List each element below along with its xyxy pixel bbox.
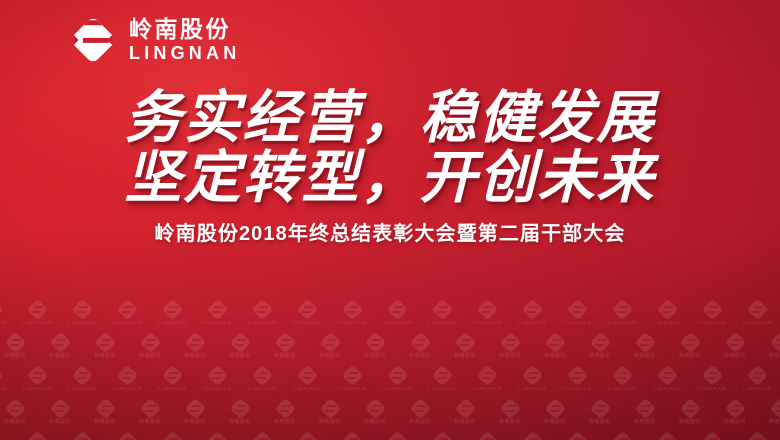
lingnan-diamond-logo-icon: [454, 398, 475, 419]
watermark-label-en: LINGNAN: [473, 321, 502, 326]
watermark-tile: 岭南股份: [398, 399, 443, 425]
watermark-label-cn: 岭南股份: [544, 420, 566, 425]
watermark-tile: LINGNAN: [330, 432, 375, 440]
watermark-tile: LINGNAN: [195, 300, 240, 326]
watermark-tile: 岭南股份: [578, 399, 623, 425]
watermark-label-cn: 岭南股份: [274, 354, 296, 359]
lingnan-diamond-logo-icon: [612, 365, 633, 386]
lingnan-diamond-logo-icon: [769, 332, 780, 353]
watermark-tile: LINGNAN: [510, 432, 555, 440]
watermark-label-en: LINGNAN: [203, 321, 232, 326]
lingnan-diamond-logo-icon: [657, 431, 678, 440]
lingnan-diamond-logo-icon: [207, 365, 228, 386]
watermark-label-cn: 岭南股份: [679, 420, 701, 425]
watermark-tile: LINGNAN: [555, 366, 600, 392]
lingnan-diamond-logo-icon: [0, 365, 3, 386]
watermark-tile: 岭南股份: [623, 333, 668, 359]
watermark-label-en: LINGNAN: [0, 321, 7, 326]
watermark-label-en: LINGNAN: [518, 321, 547, 326]
headline-line-2: 坚定转型，开创未来: [0, 148, 780, 208]
watermark-tile: 岭南股份: [713, 333, 758, 359]
lingnan-diamond-logo-icon: [297, 431, 318, 440]
watermark-label-cn: 岭南股份: [319, 354, 341, 359]
watermark-tile: LINGNAN: [735, 366, 780, 392]
watermark-label-cn: 岭南股份: [544, 354, 566, 359]
watermark-tile: LINGNAN: [420, 432, 465, 440]
lingnan-diamond-logo-icon: [477, 365, 498, 386]
lingnan-diamond-logo-icon: [657, 300, 678, 320]
watermark-label-en: LINGNAN: [653, 387, 682, 392]
watermark-label-cn: 岭南股份: [274, 420, 296, 425]
lingnan-diamond-logo-icon: [544, 332, 565, 353]
lingnan-diamond-logo-icon: [567, 300, 588, 320]
lingnan-diamond-logo-icon: [297, 300, 318, 320]
watermark-tile: LINGNAN: [645, 300, 690, 326]
lingnan-diamond-logo-icon: [544, 398, 565, 419]
watermark-label-en: LINGNAN: [743, 321, 772, 326]
watermark-label-cn: 岭南股份: [589, 420, 611, 425]
watermark-tile: LINGNAN: [375, 300, 420, 326]
watermark-label-cn: 岭南股份: [139, 354, 161, 359]
watermark-tile: LINGNAN: [285, 432, 330, 440]
watermark-label-en: LINGNAN: [68, 387, 97, 392]
watermark-tile: LINGNAN: [465, 300, 510, 326]
lingnan-diamond-logo-icon: [499, 398, 520, 419]
poster-canvas: LINGNANLINGNANLINGNANLINGNANLINGNANLINGN…: [0, 0, 780, 440]
watermark-label-en: LINGNAN: [338, 321, 367, 326]
watermark-label-cn: 岭南股份: [229, 420, 251, 425]
watermark-label-en: LINGNAN: [68, 321, 97, 326]
lingnan-diamond-logo-icon: [522, 431, 543, 440]
watermark-label-cn: 岭南股份: [49, 420, 71, 425]
lingnan-diamond-logo-icon: [117, 300, 138, 320]
watermark-label-en: LINGNAN: [698, 387, 727, 392]
watermark-label-cn: 岭南股份: [364, 354, 386, 359]
lingnan-diamond-logo-icon: [72, 300, 93, 320]
lingnan-diamond-logo-icon: [499, 332, 520, 353]
watermark-tile: LINGNAN: [645, 432, 690, 440]
lingnan-diamond-logo-icon: [0, 431, 3, 440]
lingnan-diamond-logo-icon: [70, 17, 116, 63]
watermark-tile: 岭南股份: [443, 399, 488, 425]
lingnan-diamond-logo-icon: [589, 398, 610, 419]
watermark-tile: LINGNAN: [0, 432, 15, 440]
lingnan-diamond-logo-icon: [387, 365, 408, 386]
watermark-label-en: LINGNAN: [563, 321, 592, 326]
watermark-tile: LINGNAN: [420, 300, 465, 326]
lingnan-diamond-logo-icon: [4, 332, 25, 353]
watermark-label-en: LINGNAN: [23, 321, 52, 326]
watermark-tile: 岭南股份: [488, 399, 533, 425]
watermark-tile: 岭南股份: [0, 333, 38, 359]
lingnan-diamond-logo-icon: [4, 398, 25, 419]
lingnan-diamond-logo-icon: [387, 300, 408, 320]
watermark-label-en: LINGNAN: [23, 387, 52, 392]
watermark-label-en: LINGNAN: [743, 387, 772, 392]
watermark-tile: 岭南股份: [83, 399, 128, 425]
lingnan-diamond-logo-icon: [297, 365, 318, 386]
watermark-tile: 岭南股份: [38, 333, 83, 359]
lingnan-diamond-logo-icon: [634, 398, 655, 419]
lingnan-diamond-logo-icon: [657, 365, 678, 386]
watermark-row: LINGNANLINGNANLINGNANLINGNANLINGNANLINGN…: [0, 432, 780, 440]
lingnan-diamond-logo-icon: [252, 431, 273, 440]
lingnan-diamond-logo-icon: [432, 300, 453, 320]
watermark-tile: LINGNAN: [105, 300, 150, 326]
watermark-label-cn: 岭南股份: [94, 354, 116, 359]
watermark-tile: LINGNAN: [375, 432, 420, 440]
watermark-tile: LINGNAN: [195, 432, 240, 440]
watermark-label-en: LINGNAN: [203, 387, 232, 392]
watermark-label-en: LINGNAN: [518, 387, 547, 392]
watermark-label-en: LINGNAN: [248, 387, 277, 392]
watermark-label-cn: 岭南股份: [4, 354, 26, 359]
lingnan-diamond-logo-icon: [72, 365, 93, 386]
watermark-label-cn: 岭南股份: [724, 354, 746, 359]
watermark-label-en: LINGNAN: [113, 387, 142, 392]
watermark-label-en: LINGNAN: [473, 387, 502, 392]
lingnan-diamond-logo-icon: [229, 398, 250, 419]
lingnan-diamond-logo-icon: [49, 398, 70, 419]
watermark-tile: LINGNAN: [0, 366, 15, 392]
watermark-label-en: LINGNAN: [158, 321, 187, 326]
lingnan-diamond-logo-icon: [139, 332, 160, 353]
watermark-tile: 岭南股份: [758, 333, 780, 359]
watermark-tile: 岭南股份: [0, 399, 38, 425]
watermark-label-cn: 岭南股份: [454, 420, 476, 425]
brand-logo-lockup: 岭南股份 LINGNAN: [70, 17, 240, 64]
watermark-tile: 岭南股份: [578, 333, 623, 359]
watermark-tile: 岭南股份: [308, 399, 353, 425]
lingnan-diamond-logo-icon: [409, 398, 430, 419]
lingnan-diamond-logo-icon: [27, 431, 48, 440]
watermark-tile: 岭南股份: [353, 399, 398, 425]
lingnan-diamond-logo-icon: [477, 300, 498, 320]
lingnan-diamond-logo-icon: [319, 398, 340, 419]
watermark-tile: LINGNAN: [15, 366, 60, 392]
lingnan-diamond-logo-icon: [94, 332, 115, 353]
watermark-row: 岭南股份岭南股份岭南股份岭南股份岭南股份岭南股份岭南股份岭南股份岭南股份岭南股份…: [0, 399, 780, 432]
watermark-tile: LINGNAN: [15, 432, 60, 440]
headline-block: 务实经营，稳健发展 坚定转型，开创未来 岭南股份2018年终总结表彰大会暨第二届…: [0, 88, 780, 246]
lingnan-diamond-logo-icon: [117, 431, 138, 440]
watermark-tile: LINGNAN: [690, 366, 735, 392]
lingnan-diamond-logo-icon: [522, 365, 543, 386]
watermark-tile: 岭南股份: [173, 399, 218, 425]
lingnan-diamond-logo-icon: [252, 300, 273, 320]
watermark-label-en: LINGNAN: [293, 387, 322, 392]
lingnan-diamond-logo-icon: [747, 300, 768, 320]
watermark-tile: LINGNAN: [150, 300, 195, 326]
lingnan-diamond-logo-icon: [207, 300, 228, 320]
lingnan-diamond-logo-icon: [162, 300, 183, 320]
watermark-pattern-band: LINGNANLINGNANLINGNANLINGNANLINGNANLINGN…: [0, 300, 780, 440]
lingnan-diamond-logo-icon: [589, 332, 610, 353]
watermark-tile: 岭南股份: [398, 333, 443, 359]
lingnan-diamond-logo-icon: [477, 431, 498, 440]
brand-name-en: LINGNAN: [129, 43, 240, 64]
watermark-tile: LINGNAN: [105, 432, 150, 440]
watermark-row: LINGNANLINGNANLINGNANLINGNANLINGNANLINGN…: [0, 366, 780, 399]
lingnan-diamond-logo-icon: [634, 332, 655, 353]
lingnan-diamond-logo-icon: [409, 332, 430, 353]
watermark-tile: LINGNAN: [600, 366, 645, 392]
watermark-tile: 岭南股份: [308, 333, 353, 359]
watermark-label-en: LINGNAN: [608, 321, 637, 326]
watermark-row: 岭南股份岭南股份岭南股份岭南股份岭南股份岭南股份岭南股份岭南股份岭南股份岭南股份…: [0, 333, 780, 366]
lingnan-diamond-logo-icon: [702, 365, 723, 386]
lingnan-diamond-logo-icon: [184, 398, 205, 419]
watermark-tile: LINGNAN: [330, 366, 375, 392]
watermark-tile: LINGNAN: [555, 300, 600, 326]
watermark-tile: 岭南股份: [488, 333, 533, 359]
lingnan-diamond-logo-icon: [94, 398, 115, 419]
watermark-tile: LINGNAN: [690, 432, 735, 440]
watermark-tile: 岭南股份: [263, 399, 308, 425]
watermark-tile: 岭南股份: [623, 399, 668, 425]
watermark-tile: 岭南股份: [263, 333, 308, 359]
watermark-tile: LINGNAN: [375, 366, 420, 392]
lingnan-diamond-logo-icon: [252, 365, 273, 386]
lingnan-diamond-logo-icon: [364, 332, 385, 353]
watermark-tile: 岭南股份: [173, 333, 218, 359]
lingnan-diamond-logo-icon: [319, 332, 340, 353]
watermark-label-cn: 岭南股份: [769, 354, 780, 359]
lingnan-diamond-logo-icon: [567, 431, 588, 440]
watermark-label-en: LINGNAN: [428, 321, 457, 326]
lingnan-diamond-logo-icon: [702, 431, 723, 440]
watermark-tile: LINGNAN: [240, 366, 285, 392]
event-subtitle: 岭南股份2018年终总结表彰大会暨第二届干部大会: [0, 222, 780, 246]
watermark-tile: LINGNAN: [240, 300, 285, 326]
brand-wordmark: 岭南股份 LINGNAN: [129, 17, 240, 64]
watermark-tile: LINGNAN: [105, 366, 150, 392]
watermark-label-cn: 岭南股份: [769, 420, 780, 425]
watermark-label-cn: 岭南股份: [634, 354, 656, 359]
watermark-tile: LINGNAN: [735, 300, 780, 326]
lingnan-diamond-logo-icon: [342, 365, 363, 386]
watermark-label-cn: 岭南股份: [679, 354, 701, 359]
lingnan-diamond-logo-icon: [72, 431, 93, 440]
watermark-label-cn: 岭南股份: [499, 420, 521, 425]
watermark-tile: LINGNAN: [60, 366, 105, 392]
watermark-tile: 岭南股份: [218, 399, 263, 425]
watermark-tile: 岭南股份: [668, 333, 713, 359]
lingnan-diamond-logo-icon: [612, 300, 633, 320]
watermark-label-en: LINGNAN: [698, 321, 727, 326]
watermark-label-en: LINGNAN: [383, 321, 412, 326]
lingnan-diamond-logo-icon: [679, 332, 700, 353]
lingnan-diamond-logo-icon: [27, 300, 48, 320]
lingnan-diamond-logo-icon: [49, 332, 70, 353]
lingnan-diamond-logo-icon: [747, 365, 768, 386]
watermark-label-cn: 岭南股份: [184, 420, 206, 425]
watermark-tile: 岭南股份: [83, 333, 128, 359]
watermark-label-cn: 岭南股份: [139, 420, 161, 425]
watermark-row: LINGNANLINGNANLINGNANLINGNANLINGNANLINGN…: [0, 300, 780, 333]
lingnan-diamond-logo-icon: [0, 300, 3, 320]
lingnan-diamond-logo-icon: [522, 300, 543, 320]
lingnan-diamond-logo-icon: [724, 332, 745, 353]
watermark-label-en: LINGNAN: [383, 387, 412, 392]
watermark-tile: LINGNAN: [420, 366, 465, 392]
watermark-tile: 岭南股份: [353, 333, 398, 359]
lingnan-diamond-logo-icon: [162, 431, 183, 440]
watermark-tile: LINGNAN: [60, 300, 105, 326]
watermark-label-cn: 岭南股份: [409, 354, 431, 359]
watermark-tile: LINGNAN: [285, 300, 330, 326]
watermark-tile: LINGNAN: [645, 366, 690, 392]
watermark-tile: LINGNAN: [285, 366, 330, 392]
watermark-label-cn: 岭南股份: [499, 354, 521, 359]
watermark-tile: LINGNAN: [600, 300, 645, 326]
watermark-tile: 岭南股份: [758, 399, 780, 425]
watermark-label-cn: 岭南股份: [364, 420, 386, 425]
lingnan-diamond-logo-icon: [27, 365, 48, 386]
headline-line-1: 务实经营，稳健发展: [0, 88, 780, 148]
watermark-tile: 岭南股份: [533, 333, 578, 359]
watermark-label-cn: 岭南股份: [634, 420, 656, 425]
watermark-tile: 岭南股份: [38, 399, 83, 425]
lingnan-diamond-logo-icon: [679, 398, 700, 419]
lingnan-diamond-logo-icon: [432, 431, 453, 440]
watermark-tile: LINGNAN: [60, 432, 105, 440]
lingnan-diamond-logo-icon: [184, 332, 205, 353]
lingnan-diamond-logo-icon: [702, 300, 723, 320]
watermark-tile: LINGNAN: [600, 432, 645, 440]
watermark-label-cn: 岭南股份: [49, 354, 71, 359]
watermark-label-cn: 岭南股份: [454, 354, 476, 359]
lingnan-diamond-logo-icon: [454, 332, 475, 353]
watermark-tile: LINGNAN: [150, 432, 195, 440]
lingnan-diamond-logo-icon: [342, 431, 363, 440]
lingnan-diamond-logo-icon: [342, 300, 363, 320]
watermark-tile: LINGNAN: [465, 366, 510, 392]
lingnan-diamond-logo-icon: [274, 398, 295, 419]
watermark-tile: 岭南股份: [128, 333, 173, 359]
lingnan-diamond-logo-icon: [139, 398, 160, 419]
watermark-tile: LINGNAN: [690, 300, 735, 326]
watermark-label-en: LINGNAN: [0, 387, 7, 392]
lingnan-diamond-logo-icon: [567, 365, 588, 386]
watermark-label-en: LINGNAN: [113, 321, 142, 326]
watermark-label-en: LINGNAN: [338, 387, 367, 392]
watermark-tile: LINGNAN: [330, 300, 375, 326]
lingnan-diamond-logo-icon: [162, 365, 183, 386]
watermark-tile: LINGNAN: [240, 432, 285, 440]
lingnan-diamond-logo-icon: [117, 365, 138, 386]
watermark-tile: LINGNAN: [555, 432, 600, 440]
lingnan-diamond-logo-icon: [364, 398, 385, 419]
watermark-tile: 岭南股份: [218, 333, 263, 359]
lingnan-diamond-logo-icon: [387, 431, 408, 440]
lingnan-diamond-logo-icon: [747, 431, 768, 440]
watermark-label-cn: 岭南股份: [229, 354, 251, 359]
watermark-label-en: LINGNAN: [653, 321, 682, 326]
watermark-tile: 岭南股份: [668, 399, 713, 425]
watermark-tile: 岭南股份: [128, 399, 173, 425]
watermark-label-en: LINGNAN: [158, 387, 187, 392]
watermark-tile: 岭南股份: [713, 399, 758, 425]
lingnan-diamond-logo-icon: [612, 431, 633, 440]
watermark-label-cn: 岭南股份: [409, 420, 431, 425]
watermark-tile: LINGNAN: [150, 366, 195, 392]
watermark-label-en: LINGNAN: [248, 321, 277, 326]
watermark-label-en: LINGNAN: [293, 321, 322, 326]
watermark-label-cn: 岭南股份: [4, 420, 26, 425]
lingnan-diamond-logo-icon: [724, 398, 745, 419]
watermark-label-cn: 岭南股份: [589, 354, 611, 359]
lingnan-diamond-logo-icon: [229, 332, 250, 353]
watermark-tile: LINGNAN: [195, 366, 240, 392]
watermark-tile: 岭南股份: [443, 333, 488, 359]
watermark-label-cn: 岭南股份: [184, 354, 206, 359]
lingnan-diamond-logo-icon: [432, 365, 453, 386]
watermark-tile: LINGNAN: [735, 432, 780, 440]
watermark-tile: LINGNAN: [465, 432, 510, 440]
lingnan-diamond-logo-icon: [769, 398, 780, 419]
watermark-tile: LINGNAN: [15, 300, 60, 326]
lingnan-diamond-logo-icon: [274, 332, 295, 353]
watermark-label-en: LINGNAN: [608, 387, 637, 392]
brand-name-cn: 岭南股份: [129, 17, 240, 42]
watermark-label-cn: 岭南股份: [94, 420, 116, 425]
watermark-tile: 岭南股份: [533, 399, 578, 425]
watermark-label-cn: 岭南股份: [319, 420, 341, 425]
watermark-label-en: LINGNAN: [563, 387, 592, 392]
lingnan-diamond-logo-icon: [207, 431, 228, 440]
watermark-tile: LINGNAN: [510, 366, 555, 392]
watermark-tile: LINGNAN: [0, 300, 15, 326]
watermark-label-en: LINGNAN: [428, 387, 457, 392]
watermark-label-cn: 岭南股份: [724, 420, 746, 425]
watermark-tile: LINGNAN: [510, 300, 555, 326]
